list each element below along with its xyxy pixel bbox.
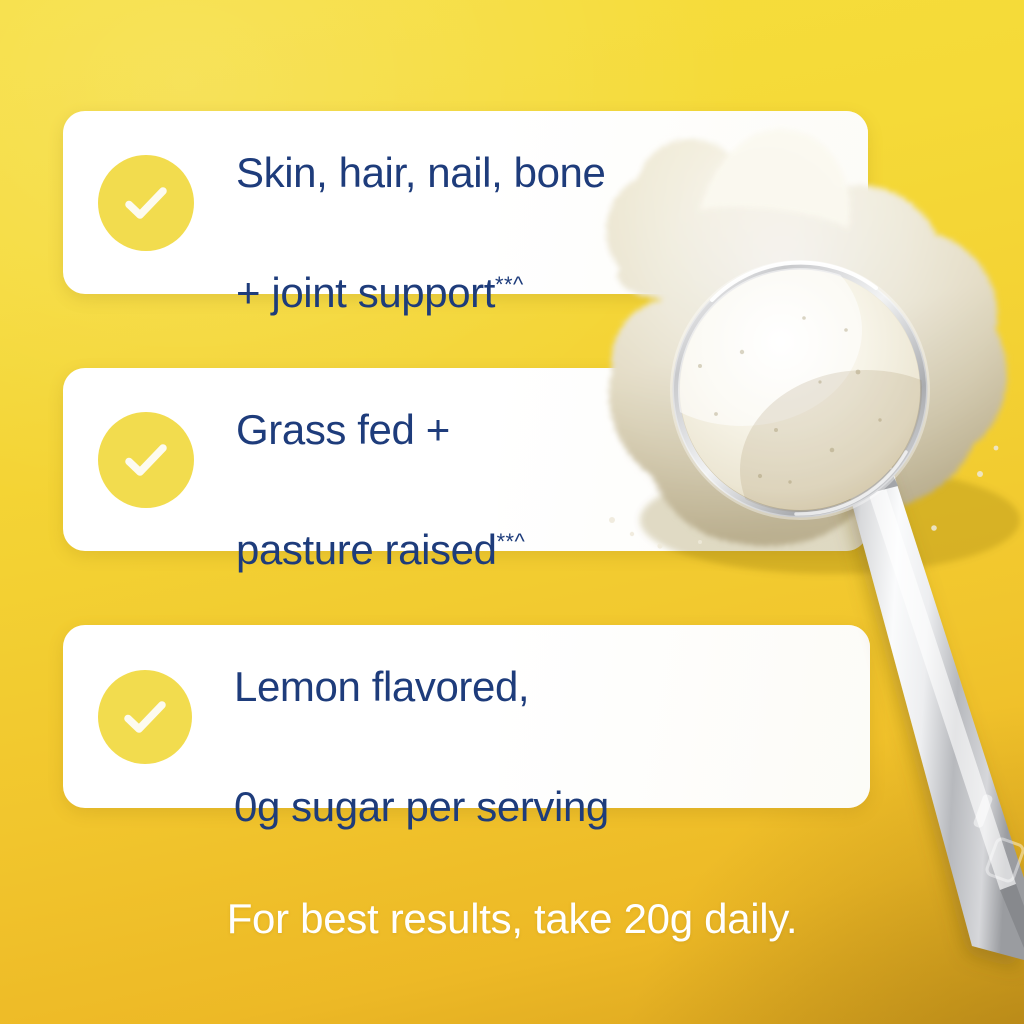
check-icon xyxy=(98,670,192,764)
benefit-line-3a: Lemon flavored, xyxy=(234,663,529,710)
benefit-line-1b: + joint support xyxy=(236,269,495,316)
benefit-line-2b: pasture raised xyxy=(236,526,497,573)
check-icon xyxy=(98,412,194,508)
benefit-text-2: Grass fed + pasture raised**^ xyxy=(236,340,525,580)
check-icon xyxy=(98,155,194,251)
benefit-footnote-1: **^ xyxy=(495,272,524,297)
benefit-text-1: Skin, hair, nail, bone + joint support**… xyxy=(236,83,605,323)
footer-note: For best results, take 20g daily. xyxy=(0,893,1024,945)
benefit-card-2: Grass fed + pasture raised**^ xyxy=(63,368,868,551)
benefit-footnote-2: **^ xyxy=(497,529,526,554)
benefit-line-2a: Grass fed + xyxy=(236,406,450,453)
benefit-text-3: Lemon flavored, 0g sugar per serving xyxy=(234,597,609,837)
benefit-line-3b: 0g sugar per serving xyxy=(234,783,609,830)
benefit-card-3: Lemon flavored, 0g sugar per serving xyxy=(63,625,870,808)
benefit-line-1a: Skin, hair, nail, bone xyxy=(236,149,605,196)
benefit-card-1: Skin, hair, nail, bone + joint support**… xyxy=(63,111,868,294)
promo-panel: Skin, hair, nail, bone + joint support**… xyxy=(0,0,1024,1024)
